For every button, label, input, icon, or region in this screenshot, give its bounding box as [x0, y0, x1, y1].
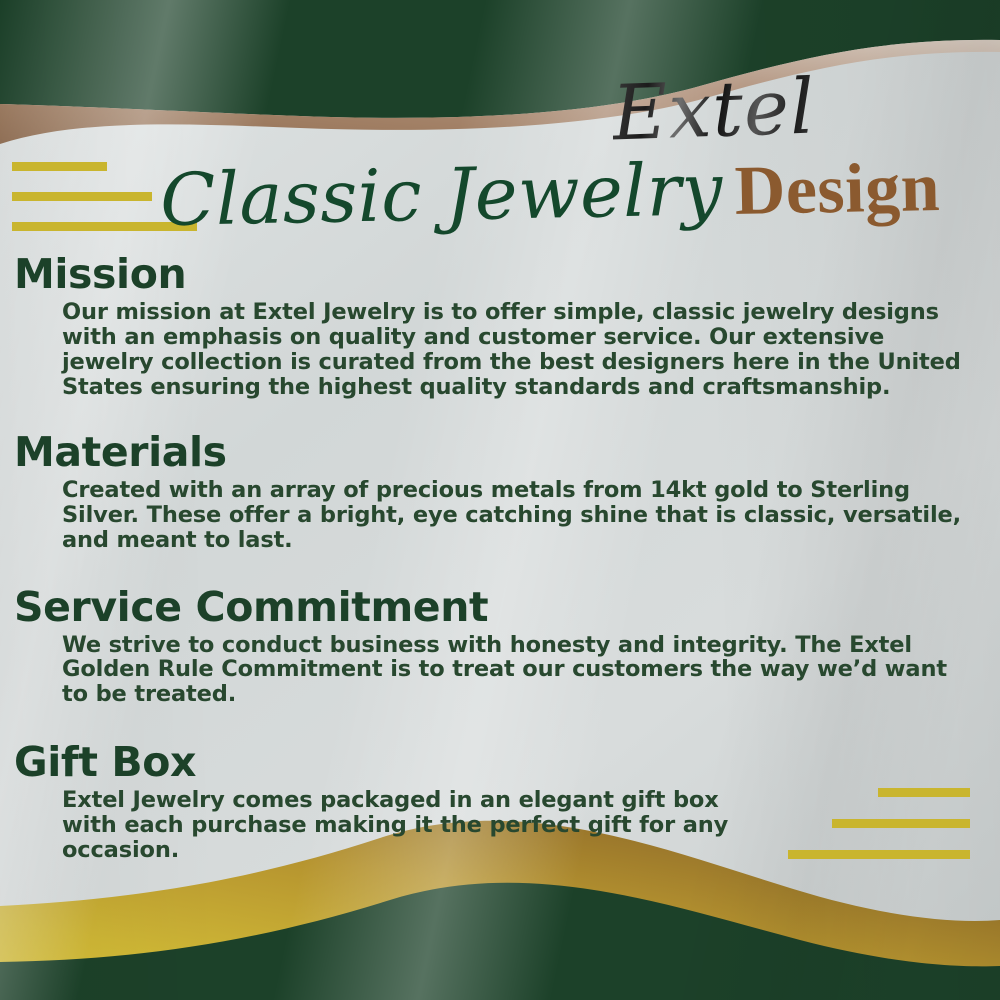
- section-body-service: We strive to conduct business with hones…: [62, 633, 974, 708]
- poster-canvas: Extel Classic JewelryDesign Mission Our …: [0, 0, 1000, 1000]
- section-body-materials: Created with an array of precious metals…: [62, 478, 974, 553]
- content-sections: Mission Our mission at Extel Jewelry is …: [0, 252, 1000, 869]
- section-mission: Mission Our mission at Extel Jewelry is …: [0, 252, 1000, 400]
- brand-logo: Extel: [611, 68, 817, 151]
- gold-bar: [788, 850, 970, 859]
- section-title-service: Service Commitment: [14, 585, 1000, 631]
- gold-bars-bottom-right: [788, 788, 970, 881]
- section-body-mission: Our mission at Extel Jewelry is to offer…: [62, 300, 974, 400]
- headline-script: Classic Jewelry: [159, 147, 723, 242]
- section-title-giftbox: Gift Box: [14, 740, 1000, 786]
- section-service-commitment: Service Commitment We strive to conduct …: [0, 585, 1000, 708]
- section-title-mission: Mission: [14, 252, 1000, 298]
- gold-bar: [832, 819, 970, 828]
- section-body-giftbox: Extel Jewelry comes packaged in an elega…: [62, 788, 770, 863]
- gold-bar: [878, 788, 970, 797]
- section-title-materials: Materials: [14, 430, 1000, 476]
- section-materials: Materials Created with an array of preci…: [0, 430, 1000, 553]
- headline-serif: Design: [734, 149, 941, 230]
